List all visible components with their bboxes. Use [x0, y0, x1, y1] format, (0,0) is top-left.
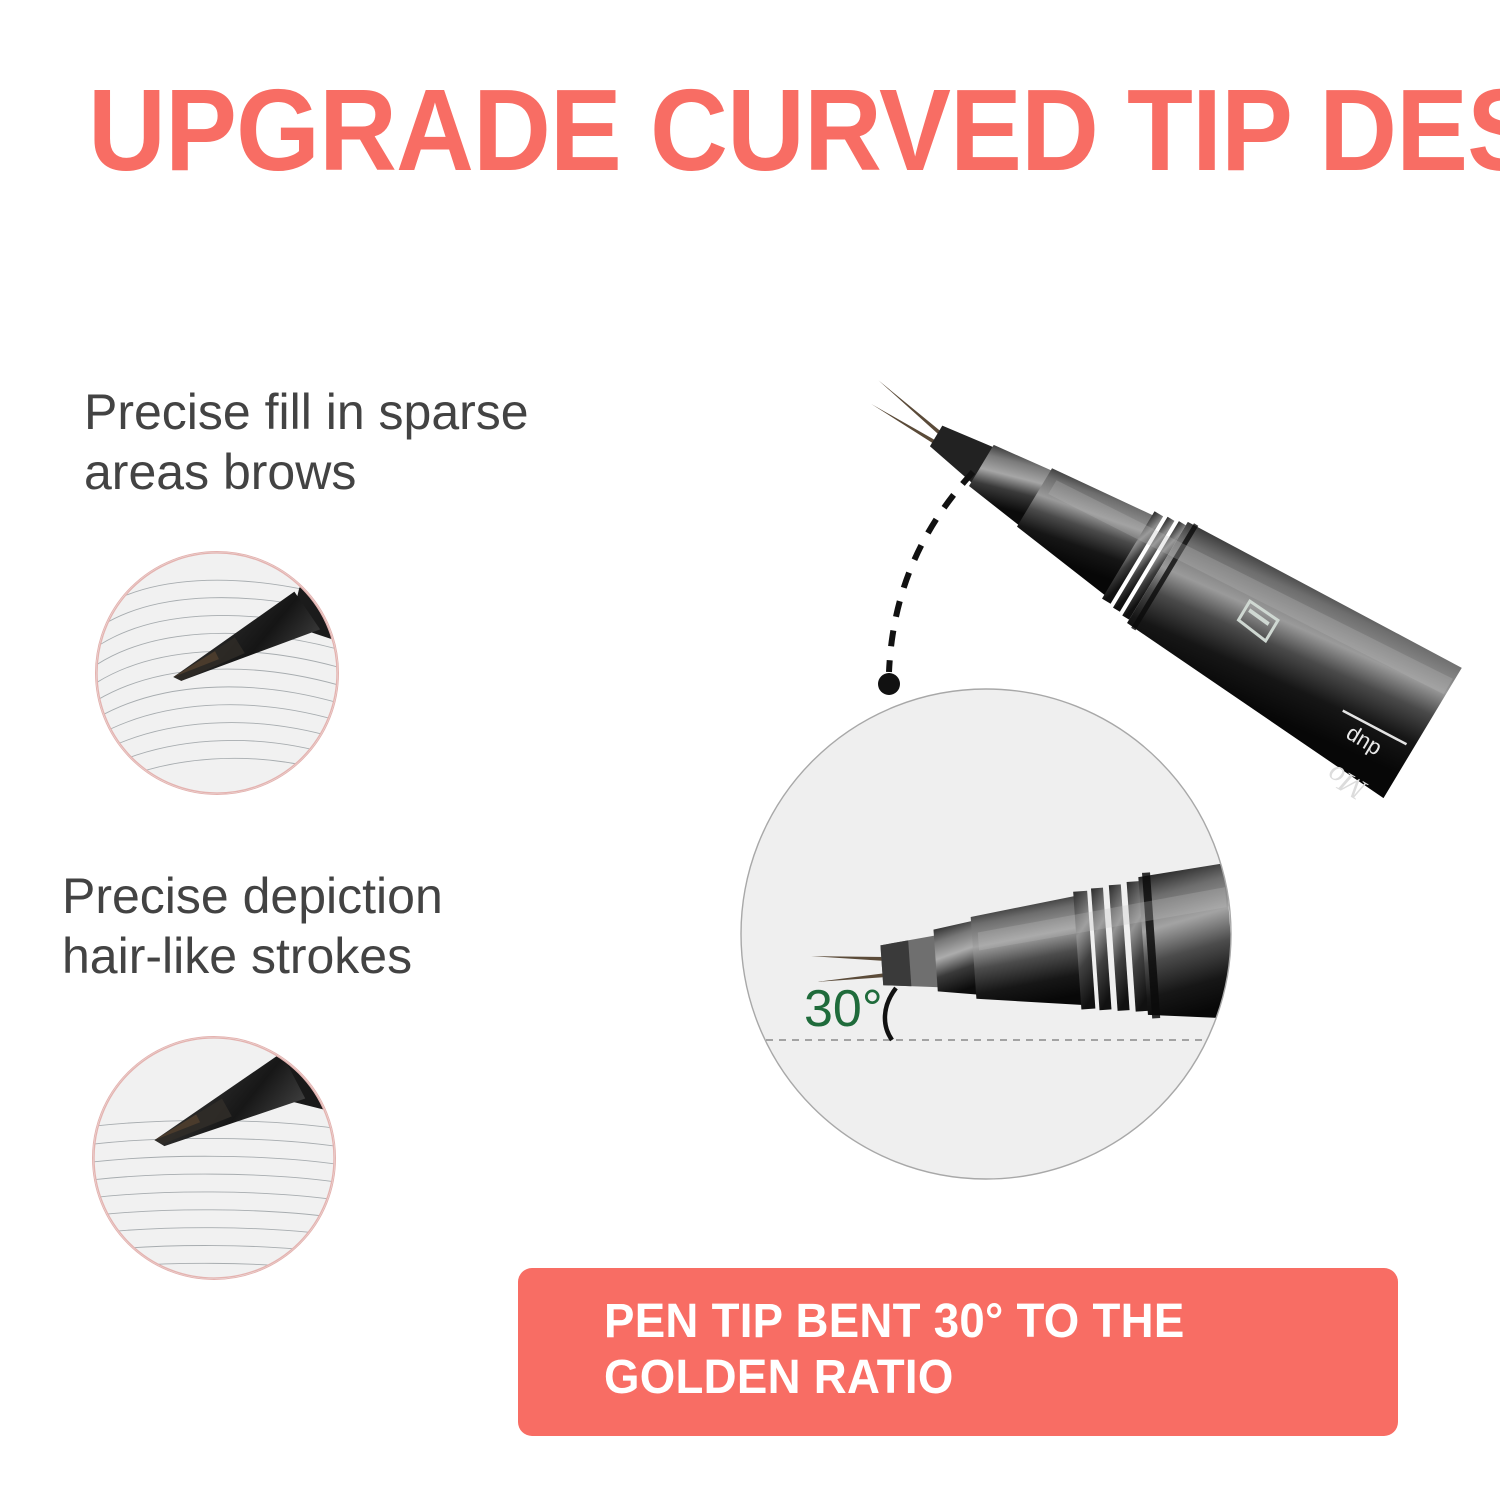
magnifier-circle-tip-angle: 30°	[740, 688, 1232, 1180]
feature-label-precise-fill: Precise fill in sparse areas brows	[84, 382, 684, 502]
callout-banner-text: PEN TIP BENT 30° TO THE GOLDEN RATIO	[604, 1294, 1358, 1406]
callout-banner: PEN TIP BENT 30° TO THE GOLDEN RATIO	[518, 1268, 1398, 1436]
pen-bristles	[865, 380, 949, 445]
infographic-page: UPGRADE CURVED TIP DESIGN Precise fill i…	[0, 0, 1500, 1500]
angle-label: 30°	[804, 980, 883, 1038]
feature-label-hair-like-strokes: Precise depiction hair-like strokes	[62, 866, 662, 986]
inset-circle-hair-like-strokes	[92, 1036, 336, 1280]
leader-line-to-magnifier	[845, 450, 1025, 710]
inset-circle-precise-fill	[95, 551, 339, 795]
page-title: UPGRADE CURVED TIP DESIGN	[88, 74, 1353, 186]
